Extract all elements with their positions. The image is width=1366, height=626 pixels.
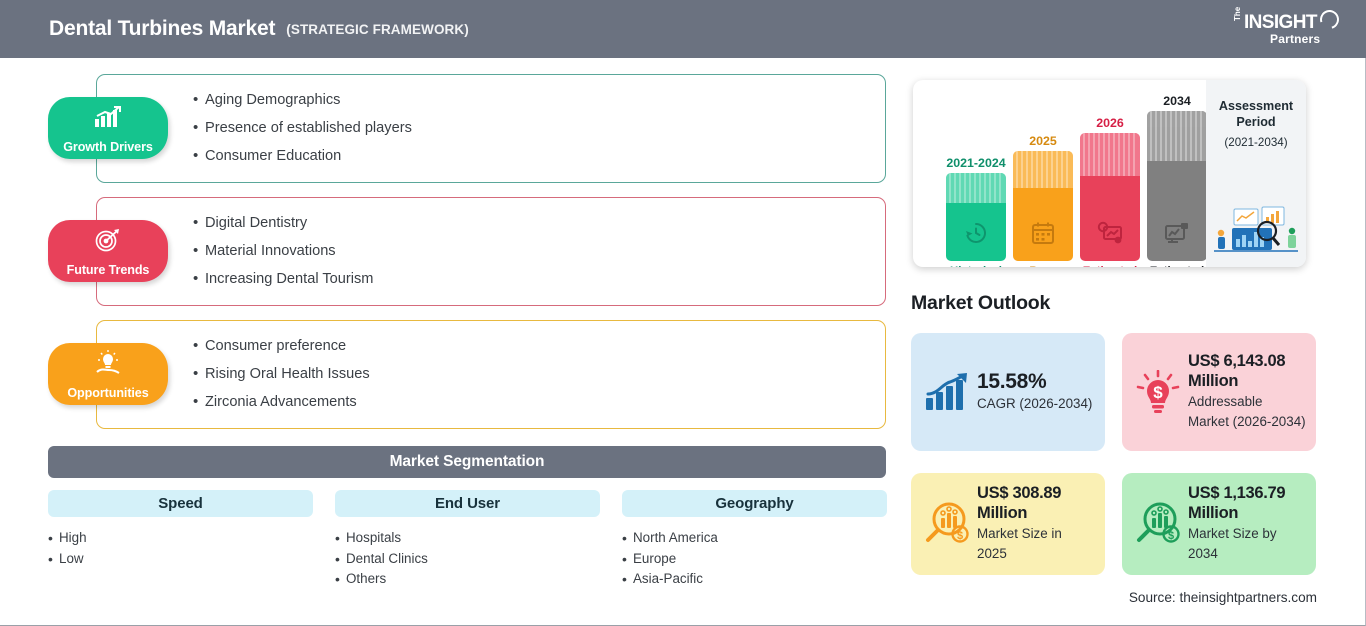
list-item: North America bbox=[622, 528, 887, 549]
outlook-card-text: US$ 308.89 Million Market Size in 2025 bbox=[973, 484, 1095, 564]
timeline-bar-group-3: 2034 bbox=[1147, 111, 1207, 261]
list-item: High bbox=[48, 528, 313, 549]
timeline-bar bbox=[1013, 151, 1073, 261]
list-item: Digital Dentistry bbox=[193, 209, 373, 237]
badge-label: Future Trends bbox=[67, 263, 150, 277]
caption-line-1: Base bbox=[1029, 265, 1056, 267]
list-item: Increasing Dental Tourism bbox=[193, 265, 373, 293]
outlook-card-label: Market Size by 2034 bbox=[1188, 524, 1306, 564]
logo-insight-text: INSIGHT bbox=[1244, 12, 1317, 34]
timeline-caption: Estimated Start Year bbox=[1083, 265, 1137, 267]
outlook-card-value: US$ 308.89 Million bbox=[977, 484, 1095, 523]
target-dartboard-icon bbox=[48, 227, 168, 253]
panel-growth-drivers: Aging Demographics Presence of establish… bbox=[96, 74, 886, 183]
outlook-card-label: CAGR (2026-2034) bbox=[977, 394, 1095, 414]
list-item: Consumer preference bbox=[193, 332, 370, 360]
timeline-bar-group-1: 2025 bbox=[1013, 151, 1073, 261]
source-attribution: Source: theinsightpartners.com bbox=[1129, 590, 1317, 605]
opportunities-list: Consumer preference Rising Oral Health I… bbox=[193, 332, 370, 416]
assessment-timeline-chart: 2021-2024 bbox=[913, 80, 1203, 267]
insight-partners-logo-icon: The INSIGHT Partners bbox=[1232, 9, 1340, 51]
timeline-bar bbox=[1080, 133, 1140, 261]
panel-opportunities: Consumer preference Rising Oral Health I… bbox=[96, 320, 886, 429]
svg-text:$: $ bbox=[1153, 383, 1163, 402]
outlook-card-value: US$ 1,136.79 Million bbox=[1188, 484, 1306, 523]
list-item: Europe bbox=[622, 549, 887, 570]
svg-text:$: $ bbox=[1168, 530, 1174, 542]
list-item: Low bbox=[48, 549, 313, 570]
segmentation-item-list: High Low bbox=[48, 528, 313, 569]
segmentation-column-header: Geography bbox=[622, 490, 887, 517]
logo-partners-text: Partners bbox=[1270, 32, 1320, 46]
outlook-card-text: US$ 1,136.79 Million Market Size by 2034 bbox=[1184, 484, 1306, 564]
history-clock-icon bbox=[964, 221, 988, 250]
segmentation-title: Market Segmentation bbox=[390, 453, 545, 471]
badge-opportunities[interactable]: Opportunities bbox=[48, 343, 168, 405]
bar-chart-growth-icon bbox=[48, 104, 168, 130]
badge-growth-drivers[interactable]: Growth Drivers bbox=[48, 97, 168, 159]
list-item: Aging Demographics bbox=[193, 86, 412, 114]
segmentation-column-end-user: End User Hospitals Dental Clinics Others bbox=[335, 490, 600, 590]
logo-swoosh-icon bbox=[1317, 7, 1343, 33]
timeline-year-label: 2021-2024 bbox=[946, 156, 1005, 170]
segmentation-column-geography: Geography North America Europe Asia-Paci… bbox=[622, 490, 887, 590]
calendar-icon bbox=[1031, 221, 1055, 250]
timeline-bar bbox=[1147, 111, 1207, 261]
outlook-card-value: 15.58% bbox=[977, 370, 1095, 393]
list-item: Others bbox=[335, 569, 600, 590]
assessment-period-panel: Assessment Period (2021-2034) bbox=[1206, 80, 1306, 267]
data-analytics-illustration-icon bbox=[1212, 201, 1300, 259]
outlook-card-label: Market Size in 2025 bbox=[977, 524, 1095, 564]
list-item: Zirconia Advancements bbox=[193, 388, 370, 416]
column-header-label: Speed bbox=[158, 495, 203, 512]
caption-line-1: Estimated bbox=[1150, 265, 1204, 267]
logo-the-text: The bbox=[1233, 7, 1242, 21]
column-header-label: End User bbox=[435, 495, 500, 512]
market-segmentation-header: Market Segmentation bbox=[48, 446, 886, 478]
page-subtitle: (STRATEGIC FRAMEWORK) bbox=[286, 22, 469, 37]
segmentation-column-header: End User bbox=[335, 490, 600, 517]
outlook-card-cagr: 15.58% CAGR (2026-2034) bbox=[911, 333, 1105, 451]
timeline-caption: Estimated End Year bbox=[1150, 265, 1204, 267]
list-item: Hospitals bbox=[335, 528, 600, 549]
page-header: Dental Turbines Market (STRATEGIC FRAMEW… bbox=[0, 0, 1366, 58]
lightbulb-dollar-icon: $ bbox=[1132, 370, 1184, 414]
future-trends-list: Digital Dentistry Material Innovations I… bbox=[193, 209, 373, 293]
list-item: Presence of established players bbox=[193, 114, 412, 142]
panel-future-trends: Digital Dentistry Material Innovations I… bbox=[96, 197, 886, 306]
timeline-caption: Base Year bbox=[1029, 265, 1056, 267]
market-outlook-title: Market Outlook bbox=[911, 292, 1050, 315]
list-item: Dental Clinics bbox=[335, 549, 600, 570]
timeline-year-label: 2025 bbox=[1029, 134, 1057, 148]
list-item: Material Innovations bbox=[193, 237, 373, 265]
outlook-card-addressable-market: $ US$ 6,143.08 Million Addressable Marke… bbox=[1122, 333, 1316, 451]
segmentation-item-list: Hospitals Dental Clinics Others bbox=[335, 528, 600, 590]
outlook-card-market-size-2025: $ US$ 308.89 Million Market Size in 2025 bbox=[911, 473, 1105, 575]
timeline-caption: Historical Years bbox=[950, 265, 1002, 267]
assessment-period-card: 2021-2024 bbox=[913, 80, 1306, 267]
assessment-period-title: Assessment Period bbox=[1206, 98, 1306, 130]
caption-line-1: Estimated bbox=[1083, 265, 1137, 267]
assessment-title-line-1: Assessment bbox=[1219, 99, 1293, 113]
assessment-title-line-2: Period bbox=[1236, 115, 1275, 129]
outlook-card-value: US$ 6,143.08 Million bbox=[1188, 352, 1306, 391]
timeline-bar-group-0: 2021-2024 bbox=[946, 173, 1006, 261]
badge-future-trends[interactable]: Future Trends bbox=[48, 220, 168, 282]
list-item: Asia-Pacific bbox=[622, 569, 887, 590]
outlook-card-market-size-2034: $ US$ 1,136.79 Million Market Size by 20… bbox=[1122, 473, 1316, 575]
monitor-chart-icon bbox=[1164, 221, 1190, 250]
segmentation-item-list: North America Europe Asia-Pacific bbox=[622, 528, 887, 590]
magnifier-bar-dollar-icon: $ bbox=[1132, 502, 1184, 546]
list-item: Consumer Education bbox=[193, 142, 412, 170]
outlook-card-text: US$ 6,143.08 Million Addressable Market … bbox=[1184, 352, 1306, 432]
badge-label: Growth Drivers bbox=[63, 140, 153, 154]
badge-label: Opportunities bbox=[67, 386, 148, 400]
segmentation-column-header: Speed bbox=[48, 490, 313, 517]
growth-drivers-list: Aging Demographics Presence of establish… bbox=[193, 86, 412, 170]
caption-line-1: Historical bbox=[950, 265, 1002, 267]
list-item: Rising Oral Health Issues bbox=[193, 360, 370, 388]
timeline-year-label: 2026 bbox=[1096, 116, 1124, 130]
infographic-page: Dental Turbines Market (STRATEGIC FRAMEW… bbox=[0, 0, 1366, 626]
magnifier-bar-dollar-icon: $ bbox=[921, 502, 973, 546]
outlook-card-label: Addressable Market (2026-2034) bbox=[1188, 392, 1306, 432]
svg-text:$: $ bbox=[957, 530, 963, 542]
page-title: Dental Turbines Market bbox=[49, 17, 275, 41]
lightbulb-hand-icon bbox=[48, 350, 168, 376]
forecast-chart-icon bbox=[1097, 221, 1123, 250]
timeline-year-label: 2034 bbox=[1163, 94, 1191, 108]
outlook-card-text: 15.58% CAGR (2026-2034) bbox=[973, 370, 1095, 414]
column-header-label: Geography bbox=[715, 495, 793, 512]
timeline-bar bbox=[946, 173, 1006, 261]
segmentation-column-speed: Speed High Low bbox=[48, 490, 313, 569]
timeline-bar-group-2: 2026 bbox=[1080, 133, 1140, 261]
growth-bar-chart-icon bbox=[921, 372, 973, 412]
assessment-period-range: (2021-2034) bbox=[1206, 136, 1306, 149]
